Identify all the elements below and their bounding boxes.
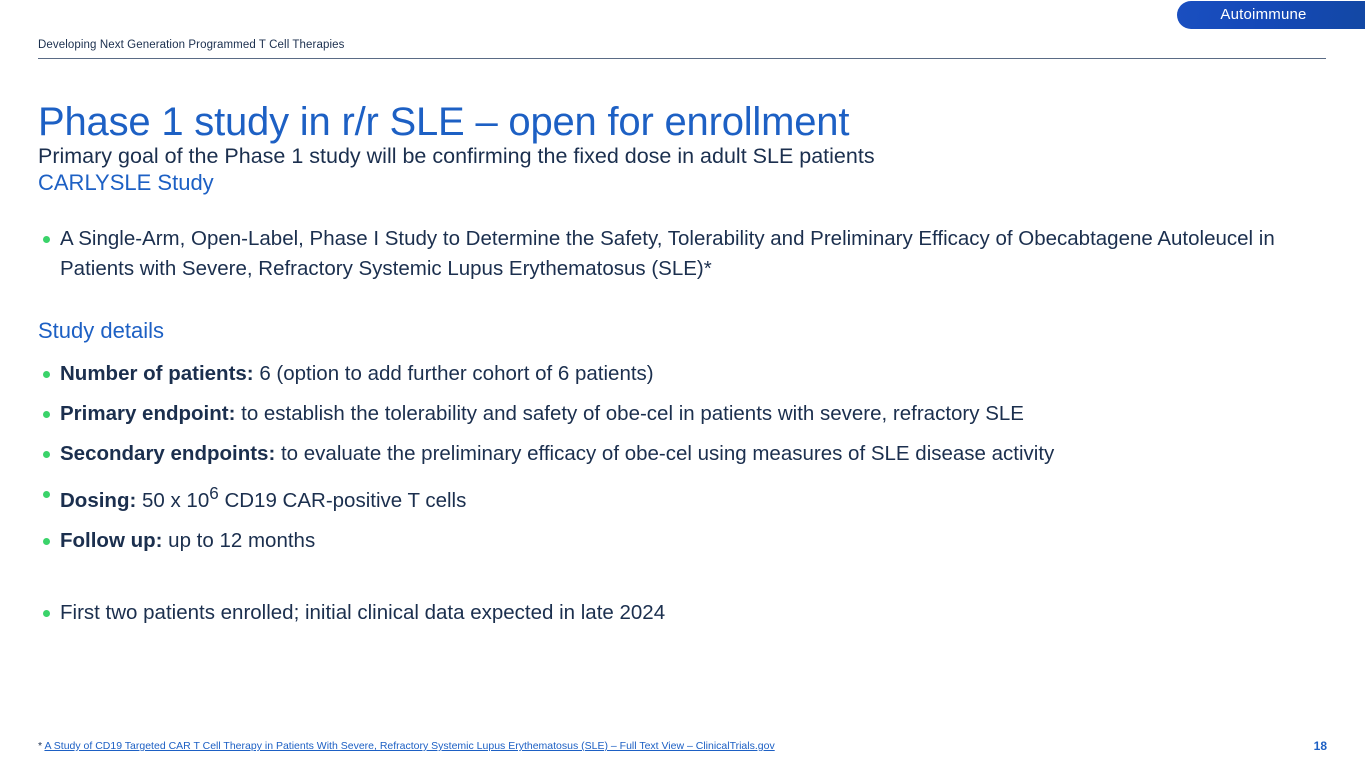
- list-item-label: Follow up:: [60, 529, 162, 552]
- bullet-dot-icon: [43, 610, 50, 617]
- list-item: Secondary endpoints: to evaluate the pre…: [38, 439, 1328, 469]
- deck-eyebrow-title: Developing Next Generation Programmed T …: [38, 39, 344, 51]
- study-details-bullet-list: Number of patients: 6 (option to add fur…: [38, 359, 1328, 566]
- list-item-text: to establish the tolerability and safety…: [235, 402, 1024, 425]
- list-item-text: A Single-Arm, Open-Label, Phase I Study …: [60, 227, 1275, 280]
- list-item-text: First two patients enrolled; initial cli…: [60, 601, 665, 624]
- bullet-dot-icon: [43, 491, 50, 498]
- list-item-label: Secondary endpoints:: [60, 442, 275, 465]
- list-item: Number of patients: 6 (option to add fur…: [38, 359, 1328, 389]
- list-item-superscript: 6: [209, 484, 219, 503]
- list-item: Primary endpoint: to establish the toler…: [38, 399, 1328, 429]
- list-item: Dosing: 50 x 106 CD19 CAR-positive T cel…: [38, 479, 1328, 516]
- page-title: Phase 1 study in r/r SLE – open for enro…: [38, 98, 849, 146]
- list-item-text: 50 x 10: [136, 489, 209, 512]
- list-item: A Single-Arm, Open-Label, Phase I Study …: [38, 224, 1328, 284]
- list-item-text: up to 12 months: [162, 529, 315, 552]
- list-item: Follow up: up to 12 months: [38, 526, 1328, 556]
- list-item-label: Dosing:: [60, 489, 136, 512]
- list-item: First two patients enrolled; initial cli…: [38, 598, 1328, 628]
- page-subtitle: Primary goal of the Phase 1 study will b…: [38, 142, 875, 170]
- list-item-text: to evaluate the preliminary efficacy of …: [275, 442, 1054, 465]
- list-item-text: 6 (option to add further cohort of 6 pat…: [254, 362, 654, 385]
- footnote: * A Study of CD19 Targeted CAR T Cell Th…: [38, 739, 775, 754]
- list-item-text-after: CD19 CAR-positive T cells: [219, 489, 467, 512]
- bullet-dot-icon: [43, 236, 50, 243]
- bullet-dot-icon: [43, 371, 50, 378]
- page-number: 18: [1314, 739, 1327, 754]
- bullet-dot-icon: [43, 411, 50, 418]
- list-item-label: Primary endpoint:: [60, 402, 235, 425]
- category-tag-autoimmune: Autoimmune: [1177, 1, 1365, 29]
- carlysle-study-bullet-list: A Single-Arm, Open-Label, Phase I Study …: [38, 224, 1328, 284]
- footnote-source-link[interactable]: A Study of CD19 Targeted CAR T Cell Ther…: [44, 740, 774, 752]
- section-heading-carlysle-study: CARLYSLE Study: [38, 169, 214, 197]
- list-item-label: Number of patients:: [60, 362, 254, 385]
- section-heading-study-details: Study details: [38, 317, 164, 345]
- header-divider: [38, 58, 1326, 59]
- closing-bullet-list: First two patients enrolled; initial cli…: [38, 598, 1328, 628]
- bullet-dot-icon: [43, 538, 50, 545]
- bullet-dot-icon: [43, 451, 50, 458]
